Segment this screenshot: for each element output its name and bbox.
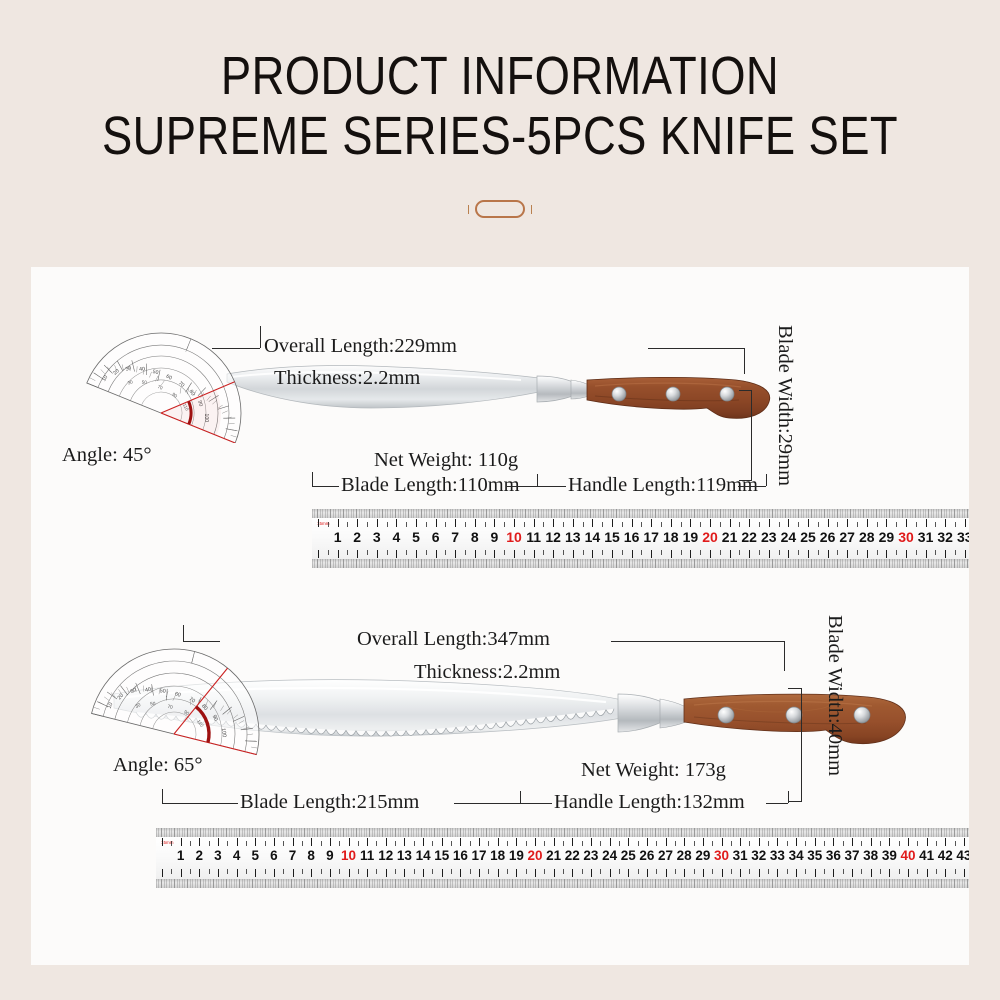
ruler-number: 19 (683, 529, 699, 545)
ruler-minor-tick (759, 522, 760, 527)
ruler-minor-tick (451, 841, 452, 846)
ruler-minor-tick (622, 522, 623, 527)
svg-text:100: 100 (220, 728, 227, 738)
ruler-major-tick (886, 550, 887, 558)
ruler-minor-tick (768, 869, 769, 874)
ruler-major-tick (722, 869, 723, 877)
ruler-minor-tick (563, 869, 564, 874)
ruler-minor-tick (507, 841, 508, 846)
ruler-minor-tick (190, 841, 191, 846)
ruler-minor-tick (246, 869, 247, 874)
ruler-major-tick (808, 519, 809, 527)
ruler-major-tick (274, 869, 275, 877)
ruler-major-tick (871, 838, 872, 846)
ruler-2: 15mm 12345678910111213141516171819202122… (156, 828, 969, 888)
ruler-minor-tick (414, 841, 415, 846)
leader-tick-overall-2-left (183, 625, 184, 641)
ruler-major-tick (833, 838, 834, 846)
divider-pill-icon (475, 200, 525, 218)
ruler-major-tick (423, 869, 424, 877)
ruler-major-tick (181, 838, 182, 846)
svg-text:50: 50 (142, 380, 148, 385)
ruler-major-tick (338, 519, 339, 527)
page-title-line2: SUPREME SERIES-5PCS KNIFE SET (80, 108, 920, 164)
ruler-minor-tick (656, 869, 657, 874)
leader-line-overall-2-left (183, 641, 220, 642)
ruler-minor-tick (731, 841, 732, 846)
ruler-major-tick (475, 550, 476, 558)
ruler-minor-tick (798, 550, 799, 555)
ruler-minor-tick (171, 841, 172, 846)
ruler-minor-tick (563, 550, 564, 555)
ruler-major-tick (218, 838, 219, 846)
ruler-major-tick (494, 550, 495, 558)
ruler-major-tick (338, 550, 339, 558)
leader-tick-overall-1-left (260, 326, 261, 348)
ruler-number: 12 (545, 529, 561, 545)
ruler-minor-tick (470, 841, 471, 846)
ruler-major-tick (788, 519, 789, 527)
ruler-major-tick (237, 869, 238, 877)
spec-thickness-2: Thickness:2.2mm (414, 661, 560, 684)
ruler-minor-tick (602, 522, 603, 527)
ruler-minor-tick (916, 550, 917, 555)
ruler-minor-tick (641, 550, 642, 555)
ruler-number: 30 (714, 848, 729, 863)
svg-text:50: 50 (150, 701, 156, 707)
ruler-major-tick (498, 838, 499, 846)
ruler-major-tick (690, 519, 691, 527)
ruler-major-tick (808, 550, 809, 558)
ruler-minor-tick (451, 869, 452, 874)
ruler-major-tick (740, 838, 741, 846)
ruler-number: 17 (472, 848, 487, 863)
ruler-number: 27 (839, 529, 855, 545)
ruler-major-tick (964, 838, 965, 846)
ruler-major-tick (908, 869, 909, 877)
ruler-major-tick (777, 838, 778, 846)
ruler-major-tick (494, 519, 495, 527)
ruler-number: 9 (490, 529, 498, 545)
ruler-minor-tick (955, 841, 956, 846)
ruler-major-tick (162, 869, 163, 877)
ruler-major-tick (847, 519, 848, 527)
ruler-number: 14 (416, 848, 431, 863)
ruler-minor-tick (583, 522, 584, 527)
ruler-minor-tick (563, 841, 564, 846)
ruler-minor-tick (582, 841, 583, 846)
ruler-minor-tick (880, 841, 881, 846)
content-card: 10 20 30 40 50 60 70 80 90 100 30 (31, 267, 969, 965)
ruler-minor-tick (661, 522, 662, 527)
svg-text:40: 40 (139, 366, 145, 372)
ruler-major-tick (592, 519, 593, 527)
ruler-minor-tick (445, 550, 446, 555)
ruler-minor-tick (265, 841, 266, 846)
ruler-number: 33 (957, 529, 969, 545)
ruler-minor-tick (488, 841, 489, 846)
ruler-major-tick (867, 550, 868, 558)
ruler-major-tick (710, 519, 711, 527)
ruler-major-tick (964, 869, 965, 877)
ruler-number: 26 (639, 848, 654, 863)
ruler-minor-tick (563, 522, 564, 527)
ruler-major-tick (651, 550, 652, 558)
ruler-major-tick (927, 869, 928, 877)
ruler-minor-tick (935, 522, 936, 527)
ruler-minor-tick (190, 869, 191, 874)
ruler-minor-tick (739, 522, 740, 527)
dim-tick-shared-2 (520, 791, 521, 803)
ruler-minor-tick (818, 550, 819, 555)
ruler-major-tick (610, 838, 611, 846)
ruler-number: 3 (373, 529, 381, 545)
ruler-number: 42 (938, 848, 953, 863)
ruler-minor-tick (656, 841, 657, 846)
ruler-major-tick (423, 838, 424, 846)
ruler-major-tick (945, 519, 946, 527)
ruler-minor-tick (465, 550, 466, 555)
ruler-minor-tick (779, 522, 780, 527)
ruler-number: 13 (565, 529, 581, 545)
ruler-major-tick (945, 550, 946, 558)
spec-blade-width-2: Blade Width:40mm (823, 615, 846, 776)
ruler-minor-tick (936, 869, 937, 874)
ruler-major-tick (749, 550, 750, 558)
ruler-major-tick (349, 838, 350, 846)
ruler-minor-tick (712, 841, 713, 846)
ruler-number: 13 (397, 848, 412, 863)
ruler-minor-tick (880, 869, 881, 874)
ruler-number: 5 (251, 848, 259, 863)
ruler-minor-tick (694, 869, 695, 874)
ruler-major-tick (396, 519, 397, 527)
ruler-major-tick (416, 550, 417, 558)
ruler-minor-tick (739, 550, 740, 555)
ruler-major-tick (274, 838, 275, 846)
ruler-minor-tick (694, 841, 695, 846)
dim-tick-blade-width-1-top (739, 390, 752, 391)
ruler-minor-tick (700, 522, 701, 527)
ruler-major-tick (906, 519, 907, 527)
spec-thickness-1: Thickness:2.2mm (274, 367, 420, 390)
ruler-number: 34 (789, 848, 804, 863)
ruler-number: 10 (506, 529, 522, 545)
ruler-major-tick (612, 519, 613, 527)
ruler-major-tick (514, 550, 515, 558)
ruler-minor-tick (432, 869, 433, 874)
ruler-major-tick (828, 519, 829, 527)
svg-text:50: 50 (160, 688, 166, 694)
knife-1-rivet (612, 387, 626, 401)
ruler-minor-tick (445, 522, 446, 527)
ruler-minor-tick (283, 869, 284, 874)
ruler-major-tick (199, 838, 200, 846)
ruler-minor-tick (524, 522, 525, 527)
ruler-major-tick (852, 838, 853, 846)
ruler-minor-tick (367, 550, 368, 555)
ruler-major-tick (553, 550, 554, 558)
ruler-major-tick (926, 550, 927, 558)
ruler-major-tick (828, 550, 829, 558)
ruler-minor-tick (768, 841, 769, 846)
ruler-minor-tick (899, 841, 900, 846)
ruler-minor-tick (602, 550, 603, 555)
ruler-minor-tick (406, 550, 407, 555)
ruler-major-tick (293, 869, 294, 877)
spec-blade-width-1: Blade Width:29mm (773, 325, 796, 486)
ruler-number: 40 (900, 848, 915, 863)
ruler-minor-tick (779, 550, 780, 555)
ruler-major-tick (436, 550, 437, 558)
ruler-major-tick (554, 838, 555, 846)
ruler-major-tick (386, 838, 387, 846)
ruler-number: 15 (604, 529, 620, 545)
ruler-minor-tick (896, 522, 897, 527)
ruler-major-tick (945, 838, 946, 846)
ruler-major-tick (833, 869, 834, 877)
dim-tick-blade-width-2-top (788, 688, 802, 689)
ruler-major-tick (759, 869, 760, 877)
ruler-minor-tick (843, 869, 844, 874)
ruler-major-tick (777, 869, 778, 877)
ruler-number: 4 (233, 848, 241, 863)
ruler-number: 20 (702, 529, 718, 545)
ruler-minor-tick (877, 550, 878, 555)
page-header: PRODUCT INFORMATION SUPREME SERIES-5PCS … (0, 0, 1000, 250)
dim-line-blade-width-2 (801, 688, 802, 801)
ruler-major-tick (367, 838, 368, 846)
ruler-minor-tick (896, 550, 897, 555)
dim-line-blade-width-1 (751, 390, 752, 480)
ruler-minor-tick (387, 550, 388, 555)
ruler-major-tick (573, 550, 574, 558)
ruler-minor-tick (526, 869, 527, 874)
ruler-minor-tick (209, 841, 210, 846)
ruler-minor-tick (720, 522, 721, 527)
ruler-minor-tick (622, 550, 623, 555)
ruler-number: 11 (360, 848, 374, 863)
ruler-1: 15mm 12345678910111213141516171819202122… (312, 509, 969, 568)
ruler-minor-tick (414, 869, 415, 874)
ruler-major-tick (671, 519, 672, 527)
ruler-minor-tick (328, 550, 329, 555)
ruler-number: 9 (326, 848, 334, 863)
ruler-major-tick (255, 869, 256, 877)
ruler-minor-tick (171, 869, 172, 874)
ruler-minor-tick (406, 522, 407, 527)
ruler-major-tick (534, 519, 535, 527)
divider-tick-left (468, 205, 469, 214)
ruler-minor-tick (681, 522, 682, 527)
ruler-minor-tick (731, 869, 732, 874)
ruler-number: 29 (879, 529, 895, 545)
ruler-number: 20 (527, 848, 542, 863)
ruler-number: 23 (583, 848, 598, 863)
ruler-minor-tick (712, 869, 713, 874)
knife-2-rivet (718, 707, 734, 723)
ruler-minor-tick (470, 869, 471, 874)
dim-line-blade-1-left (312, 486, 339, 487)
ruler-major-tick (199, 869, 200, 877)
ruler-major-tick (906, 550, 907, 558)
dim-tick-blade-1-left (312, 472, 313, 486)
ruler-minor-tick (843, 841, 844, 846)
dim-line-handle-1-left (537, 486, 566, 487)
ruler-number: 21 (722, 529, 738, 545)
spec-blade-length-1: Blade Length:110mm (341, 474, 520, 497)
dim-line-blade-1-right (507, 486, 537, 487)
ruler-minor-tick (387, 522, 388, 527)
ruler-minor-tick (347, 550, 348, 555)
ruler-number: 5 (412, 529, 420, 545)
ruler-major-tick (749, 519, 750, 527)
ruler-minor-tick (209, 869, 210, 874)
ruler-minor-tick (837, 522, 838, 527)
ruler-major-tick (318, 550, 319, 558)
ruler-major-tick (847, 550, 848, 558)
ruler-major-tick (796, 869, 797, 877)
leader-line-overall-1-left (212, 348, 260, 349)
ruler-minor-tick (619, 869, 620, 874)
ruler-number: 22 (741, 529, 757, 545)
ruler-major-tick (647, 869, 648, 877)
ruler-number: 6 (432, 529, 440, 545)
ruler-number: 31 (733, 848, 748, 863)
ruler-number: 41 (919, 848, 934, 863)
ruler-major-tick (769, 519, 770, 527)
ruler-number: 28 (859, 529, 875, 545)
ruler-minor-tick (857, 550, 858, 555)
svg-text:40: 40 (145, 687, 152, 694)
ruler-number: 17 (643, 529, 659, 545)
ruler-minor-tick (376, 841, 377, 846)
ruler-major-tick (357, 550, 358, 558)
ruler-major-tick (852, 869, 853, 877)
leader-line-overall-2-right (611, 641, 784, 642)
ruler-major-tick (965, 550, 966, 558)
ruler-minor-tick (877, 522, 878, 527)
ruler-minor-tick (321, 869, 322, 874)
spec-blade-length-2: Blade Length:215mm (240, 791, 419, 814)
ruler-major-tick (769, 550, 770, 558)
ruler-minor-tick (899, 869, 900, 874)
ruler-minor-tick (798, 522, 799, 527)
ruler-minor-tick (787, 869, 788, 874)
ruler-minor-tick (302, 869, 303, 874)
ruler-number: 14 (585, 529, 601, 545)
ruler-minor-tick (675, 869, 676, 874)
ruler-minor-tick (600, 869, 601, 874)
ruler-major-tick (573, 519, 574, 527)
ruler-number: 31 (918, 529, 934, 545)
ruler-major-tick (965, 519, 966, 527)
ruler-major-tick (404, 838, 405, 846)
spec-net-weight-1: Net Weight: 110g (374, 449, 518, 472)
ruler-minor-tick (638, 841, 639, 846)
ruler-major-tick (815, 838, 816, 846)
ruler-major-tick (591, 838, 592, 846)
ruler-minor-tick (824, 869, 825, 874)
ruler-number: 18 (663, 529, 679, 545)
ruler-minor-tick (619, 841, 620, 846)
ruler-minor-tick (955, 522, 956, 527)
ruler-minor-tick (824, 841, 825, 846)
ruler-minor-tick (641, 522, 642, 527)
ruler-major-tick (740, 869, 741, 877)
ruler-minor-tick (837, 550, 838, 555)
ruler-major-tick (591, 869, 592, 877)
protractor-icon-2: 10 20 30 40 50 60 70 80 90 100 30 50 (69, 622, 279, 767)
ruler-minor-tick (358, 869, 359, 874)
ruler-minor-tick (805, 841, 806, 846)
ruler-minor-tick (818, 522, 819, 527)
ruler-minor-tick (935, 550, 936, 555)
ruler-minor-tick (395, 869, 396, 874)
ruler-minor-tick (583, 550, 584, 555)
ruler-major-tick (318, 519, 319, 527)
ruler-number: 11 (526, 529, 541, 545)
ruler-major-tick (671, 550, 672, 558)
ruler-major-tick (592, 550, 593, 558)
ruler-minor-tick (227, 841, 228, 846)
protractor-icon-1: 10 20 30 40 50 60 70 80 90 100 30 (66, 313, 256, 443)
ruler-minor-tick (936, 841, 937, 846)
ruler-minor-tick (339, 869, 340, 874)
ruler-minor-tick (955, 550, 956, 555)
ruler-major-tick (386, 869, 387, 877)
ruler-major-tick (871, 869, 872, 877)
spec-handle-length-1: Handle Length:119mm (568, 474, 758, 497)
ruler-number: 29 (695, 848, 710, 863)
ruler-minor-tick (328, 522, 329, 527)
ruler-number: 33 (770, 848, 785, 863)
ruler-major-tick (815, 869, 816, 877)
ruler-minor-tick (321, 841, 322, 846)
ruler-major-tick (396, 550, 397, 558)
ruler-major-tick (535, 838, 536, 846)
ruler-major-tick (479, 838, 480, 846)
ruler-major-tick (908, 838, 909, 846)
ruler-minor-tick (246, 841, 247, 846)
ruler-major-tick (647, 838, 648, 846)
ruler-major-tick (684, 838, 685, 846)
ruler-major-tick (237, 838, 238, 846)
dim-line-handle-2-left (520, 803, 552, 804)
dim-tick-blade-width-1-bottom (739, 480, 752, 481)
ruler-major-tick (796, 838, 797, 846)
ruler-minor-tick (504, 522, 505, 527)
ruler-minor-tick (861, 869, 862, 874)
ruler-number: 22 (565, 848, 580, 863)
ruler-minor-tick (917, 869, 918, 874)
ruler-major-tick (759, 838, 760, 846)
ruler-major-tick (703, 838, 704, 846)
ruler-number: 16 (624, 529, 640, 545)
ruler-major-tick (926, 519, 927, 527)
ruler-major-tick (628, 869, 629, 877)
ruler-major-tick (455, 519, 456, 527)
spec-overall-length-1: Overall Length:229mm (264, 335, 457, 358)
ruler-major-tick (889, 869, 890, 877)
ruler-minor-tick (661, 550, 662, 555)
ruler-minor-tick (227, 869, 228, 874)
ruler-major-tick (690, 550, 691, 558)
ruler-major-tick (442, 838, 443, 846)
ruler-number: 7 (289, 848, 297, 863)
dim-line-blade-2-left (162, 803, 238, 804)
ruler-minor-tick (543, 522, 544, 527)
